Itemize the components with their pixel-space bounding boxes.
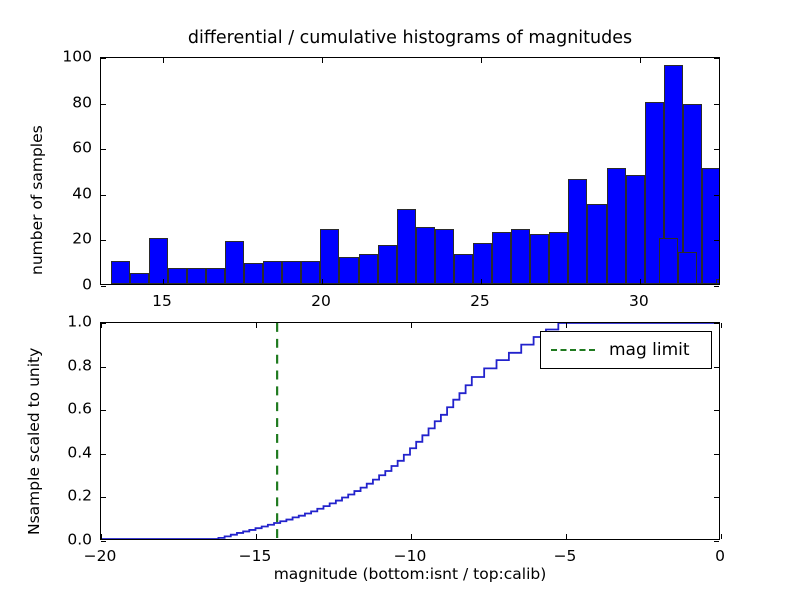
bottom-ytick: [714, 497, 719, 498]
top-ytick: [714, 104, 719, 105]
top-xtick: [481, 279, 482, 284]
bottom-xtick-label: −5: [554, 549, 577, 565]
histogram-bar: [111, 261, 130, 284]
histogram-bar: [530, 234, 549, 284]
histogram-bar: [659, 238, 678, 284]
top-ytick: [101, 286, 106, 287]
top-ytick: [714, 195, 719, 196]
bottom-ytick-label: 0.6: [50, 401, 92, 417]
histogram-bar: [187, 268, 206, 284]
top-ytick-label: 100: [52, 49, 92, 65]
top-ytick-label: 40: [52, 186, 92, 202]
histogram-bar: [320, 229, 339, 284]
top-xtick: [163, 279, 164, 284]
bottom-ytick-label: 1.0: [50, 314, 92, 330]
histogram-bar: [454, 254, 473, 284]
bottom-ytick: [101, 541, 106, 542]
top-xtick: [322, 279, 323, 284]
histogram-bar: [397, 209, 416, 284]
bottom-ytick: [101, 497, 106, 498]
histogram-bar: [716, 279, 719, 284]
bottom-ytick: [714, 323, 719, 324]
top-ytick-label: 0: [52, 277, 92, 293]
histogram-bar: [587, 204, 606, 284]
top-axes-plot-area: [101, 58, 719, 284]
bottom-ytick: [101, 410, 106, 411]
top-xtick-label: 25: [470, 294, 490, 310]
bottom-ytick: [101, 454, 106, 455]
histogram-bar: [301, 261, 320, 284]
top-ytick-label: 60: [52, 140, 92, 156]
histogram-bar: [206, 268, 225, 284]
histogram-bar: [168, 268, 187, 284]
top-xtick-label: 30: [629, 294, 649, 310]
top-ytick: [714, 286, 719, 287]
bottom-xtick: [566, 323, 567, 328]
histogram-bar: [568, 179, 587, 284]
bottom-xtick: [256, 323, 257, 328]
histogram-bar: [607, 168, 626, 284]
figure-title: differential / cumulative histograms of …: [188, 30, 632, 48]
top-ytick-label: 80: [52, 95, 92, 111]
bottom-xtick: [256, 534, 257, 539]
top-xtick: [640, 279, 641, 284]
matplotlib-figure: differential / cumulative histograms of …: [0, 0, 800, 600]
top-axes-histogram: [100, 57, 720, 285]
bottom-ytick: [714, 410, 719, 411]
bottom-ytick: [101, 367, 106, 368]
bottom-ytick-label: 0.4: [50, 445, 92, 461]
top-xtick: [481, 58, 482, 63]
top-xtick: [163, 58, 164, 63]
bottom-xtick: [101, 323, 102, 328]
bottom-ytick-label: 0.2: [50, 489, 92, 505]
bottom-ytick-label: 0.0: [50, 532, 92, 548]
bottom-ytick: [714, 367, 719, 368]
histogram-bar: [416, 227, 435, 284]
top-axes-ylabel: number of samples: [30, 125, 46, 275]
bottom-ytick-label: 0.8: [50, 358, 92, 374]
histogram-bar: [130, 273, 149, 284]
bottom-xtick: [411, 534, 412, 539]
histogram-bar: [378, 245, 397, 284]
histogram-bar: [473, 243, 492, 284]
top-ytick: [714, 240, 719, 241]
histogram-bar: [339, 257, 358, 284]
histogram-bar: [702, 168, 719, 284]
bottom-xtick: [101, 534, 102, 539]
top-xtick-label: 15: [152, 294, 172, 310]
bottom-xtick: [721, 534, 722, 539]
top-ytick: [714, 149, 719, 150]
histogram-bar: [225, 241, 244, 284]
bottom-xtick: [721, 323, 722, 328]
histogram-bar: [435, 229, 454, 284]
histogram-bar: [678, 252, 697, 284]
legend[interactable]: mag limit: [540, 331, 712, 369]
histogram-bar: [359, 254, 378, 284]
top-ytick: [101, 104, 106, 105]
top-ytick: [101, 58, 106, 59]
top-xtick-label: 20: [311, 294, 331, 310]
histogram-bar: [282, 261, 301, 284]
top-ytick-label: 20: [52, 232, 92, 248]
maglimit-legend-swatch: [551, 349, 595, 351]
bottom-ytick: [714, 454, 719, 455]
top-xtick: [322, 58, 323, 63]
top-xtick: [640, 58, 641, 63]
histogram-bar: [263, 261, 282, 284]
bottom-xtick: [566, 534, 567, 539]
bottom-xtick-label: −10: [394, 549, 427, 565]
bottom-xtick-label: −15: [239, 549, 272, 565]
histogram-bar: [549, 232, 568, 284]
legend-label-mag-limit: mag limit: [609, 340, 690, 360]
top-ytick: [101, 195, 106, 196]
bottom-axes-xlabel: magnitude (bottom:isnt / top:calib): [274, 567, 547, 583]
bottom-xtick-label: 0: [715, 549, 725, 565]
top-ytick: [714, 58, 719, 59]
histogram-bar: [511, 229, 530, 284]
histogram-bar: [244, 263, 263, 284]
histogram-bar: [492, 232, 511, 284]
histogram-bar: [149, 238, 168, 284]
bottom-axes-ylabel: Nsample scaled to unity: [27, 348, 43, 535]
bottom-ytick: [714, 541, 719, 542]
histogram-bar: [626, 175, 645, 284]
bottom-xtick-label: −20: [84, 549, 117, 565]
top-ytick: [101, 240, 106, 241]
bottom-xtick: [411, 323, 412, 328]
top-ytick: [101, 149, 106, 150]
